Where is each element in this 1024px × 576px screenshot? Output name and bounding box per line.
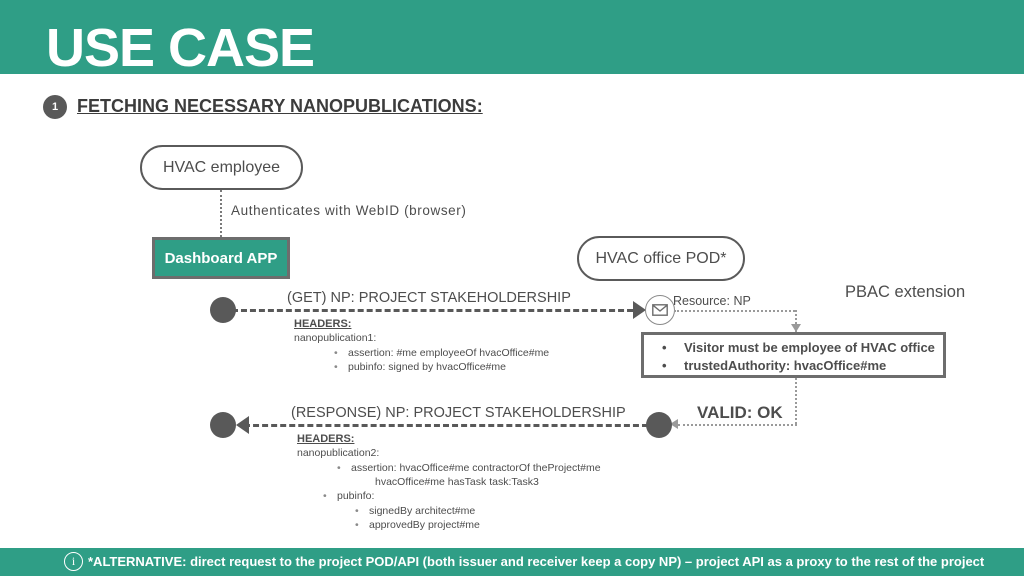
slide-canvas: { "header": { "title": "USE CASE", "band… bbox=[0, 0, 1024, 576]
auth-connector-line bbox=[220, 190, 222, 237]
step-number-badge: 1 bbox=[43, 95, 67, 119]
node-hvac-office-pod: HVAC office POD* bbox=[577, 236, 745, 281]
request-headers-title: HEADERS: bbox=[294, 317, 549, 331]
list-item: pubinfo: bbox=[297, 490, 601, 503]
footer-note: *ALTERNATIVE: direct request to the proj… bbox=[88, 554, 984, 569]
response-arrowhead-icon bbox=[236, 416, 249, 434]
node-dashboard-app: Dashboard APP bbox=[152, 237, 290, 279]
auth-label: Authenticates with WebID (browser) bbox=[231, 203, 466, 218]
list-item: Visitor must be employee of HVAC office bbox=[644, 339, 943, 357]
list-item: trustedAuthority: hvacOffice#me bbox=[644, 357, 943, 375]
list-item: hvacOffice#me hasTask task:Task3 bbox=[297, 476, 601, 489]
page-title: USE CASE bbox=[46, 21, 314, 75]
list-item: assertion: hvacOffice#me contractorOf th… bbox=[297, 462, 601, 475]
list-item: approvedBy project#me bbox=[297, 519, 601, 532]
policy-path-segment-top bbox=[674, 310, 795, 312]
response-label: (RESPONSE) NP: PROJECT STAKEHOLDERSHIP bbox=[291, 405, 626, 421]
list-item: pubinfo: signed by hvacOffice#me bbox=[294, 361, 549, 374]
valid-status-label: VALID: OK bbox=[697, 403, 783, 423]
request-label: (GET) NP: PROJECT STAKEHOLDERSHIP bbox=[287, 290, 571, 306]
pbac-rule-list: Visitor must be employee of HVAC office … bbox=[644, 339, 943, 376]
response-target-dot bbox=[210, 412, 236, 438]
response-headers-sub: nanopublication2: bbox=[297, 447, 601, 460]
pbac-policy-box: Visitor must be employee of HVAC office … bbox=[641, 332, 946, 378]
pbac-extension-label: PBAC extension bbox=[845, 283, 965, 302]
request-arrow-line bbox=[232, 309, 642, 312]
policy-arrowhead-down-icon bbox=[791, 324, 801, 332]
response-headers-block: HEADERS: nanopublication2: assertion: hv… bbox=[297, 432, 601, 533]
list-item: assertion: #me employeeOf hvacOffice#me bbox=[294, 347, 549, 360]
request-headers-sub: nanopublication1: bbox=[294, 332, 549, 345]
info-icon: i bbox=[64, 552, 83, 571]
envelope-icon bbox=[645, 295, 675, 325]
resource-label: Resource: NP bbox=[673, 294, 751, 308]
response-headers-title: HEADERS: bbox=[297, 432, 601, 446]
response-pubinfo-sublist: signedBy architect#me approvedBy project… bbox=[297, 505, 601, 533]
validation-origin-dot bbox=[646, 412, 672, 438]
response-assertion-list: assertion: hvacOffice#me contractorOf th… bbox=[297, 462, 601, 490]
policy-path-segment-down-out bbox=[795, 378, 797, 424]
response-arrow-line bbox=[244, 424, 648, 427]
policy-path-segment-bottom bbox=[678, 424, 797, 426]
response-pubinfo-list: pubinfo: bbox=[297, 490, 601, 503]
request-headers-block: HEADERS: nanopublication1: assertion: #m… bbox=[294, 317, 549, 374]
list-item: signedBy architect#me bbox=[297, 505, 601, 518]
step-title: FETCHING NECESSARY NANOPUBLICATIONS: bbox=[77, 96, 483, 117]
node-hvac-employee: HVAC employee bbox=[140, 145, 303, 190]
request-headers-bullets: assertion: #me employeeOf hvacOffice#me … bbox=[294, 347, 549, 375]
